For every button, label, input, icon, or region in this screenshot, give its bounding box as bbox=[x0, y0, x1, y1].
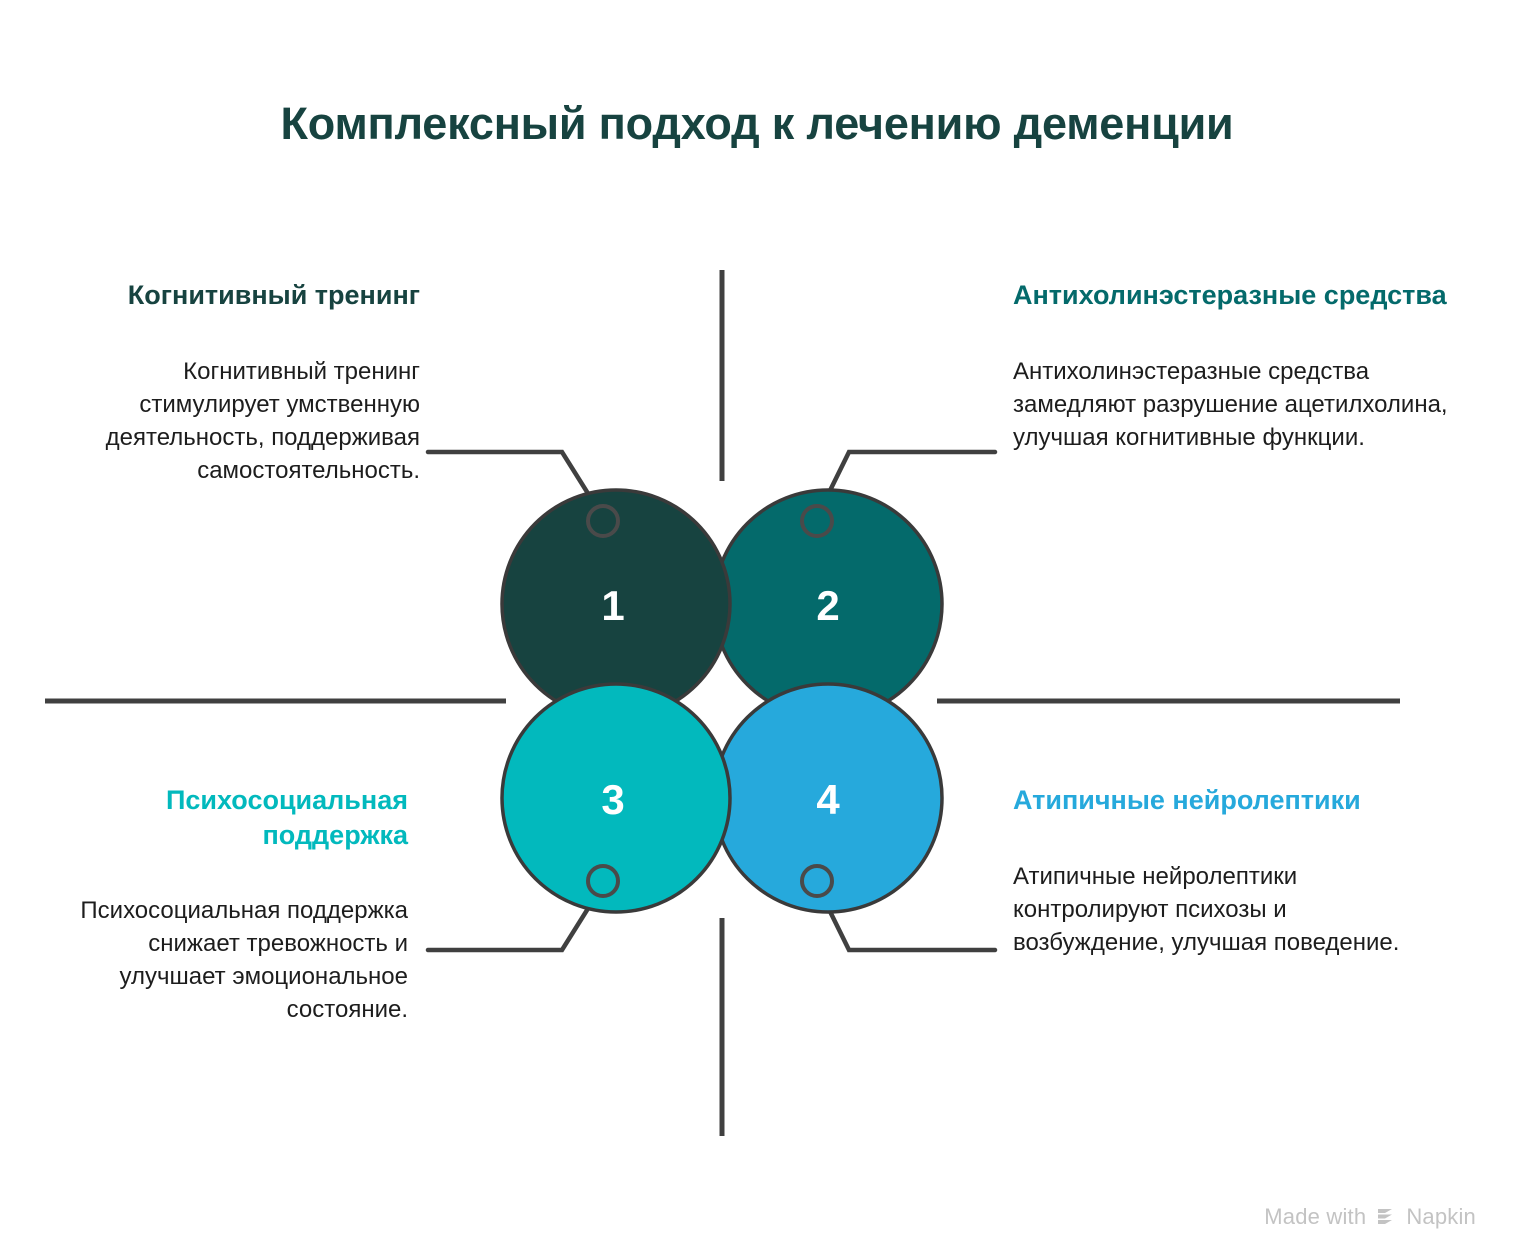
watermark-brand: Napkin bbox=[1406, 1204, 1476, 1230]
quadrant-heading-2: Антихолинэстеразные средства bbox=[1013, 278, 1453, 313]
quadrant-body-2: Антихолинэстеразные средства замедляют р… bbox=[1013, 355, 1453, 454]
watermark-prefix: Made with bbox=[1264, 1204, 1366, 1230]
quadrant-heading-1: Когнитивный тренинг bbox=[60, 278, 420, 313]
circle-group bbox=[502, 490, 942, 912]
quadrant-body-4: Атипичные нейролептики контролируют псих… bbox=[1013, 860, 1433, 959]
circle-number-1: 1 bbox=[601, 582, 624, 629]
quadrant-heading-4: Атипичные нейролептики bbox=[1013, 783, 1433, 818]
circle-number-3: 3 bbox=[601, 776, 624, 823]
quadrant-heading-3: Психосоциальная поддержка bbox=[60, 783, 408, 852]
quadrant-block-anticholinesterase-agents: Антихолинэстеразные средства Антихолинэс… bbox=[1013, 278, 1453, 454]
diagram-canvas: 1 2 3 4 bbox=[0, 0, 1514, 1256]
watermark: Made with Napkin bbox=[1264, 1204, 1476, 1230]
quadrant-block-cognitive-training: Когнитивный тренинг Когнитивный тренинг … bbox=[60, 278, 420, 487]
quadrant-body-3: Психосоциальная поддержка снижает тревож… bbox=[60, 894, 408, 1026]
quadrant-body-1: Когнитивный тренинг стимулирует умственн… bbox=[60, 355, 420, 487]
circle-number-4: 4 bbox=[816, 776, 840, 823]
quadrant-block-psychosocial-support: Психосоциальная поддержка Психосоциальна… bbox=[60, 783, 408, 1027]
napkin-logo-icon bbox=[1375, 1206, 1397, 1228]
circle-number-2: 2 bbox=[816, 582, 839, 629]
quadrant-block-atypical-antipsychotics: Атипичные нейролептики Атипичные нейроле… bbox=[1013, 783, 1433, 959]
